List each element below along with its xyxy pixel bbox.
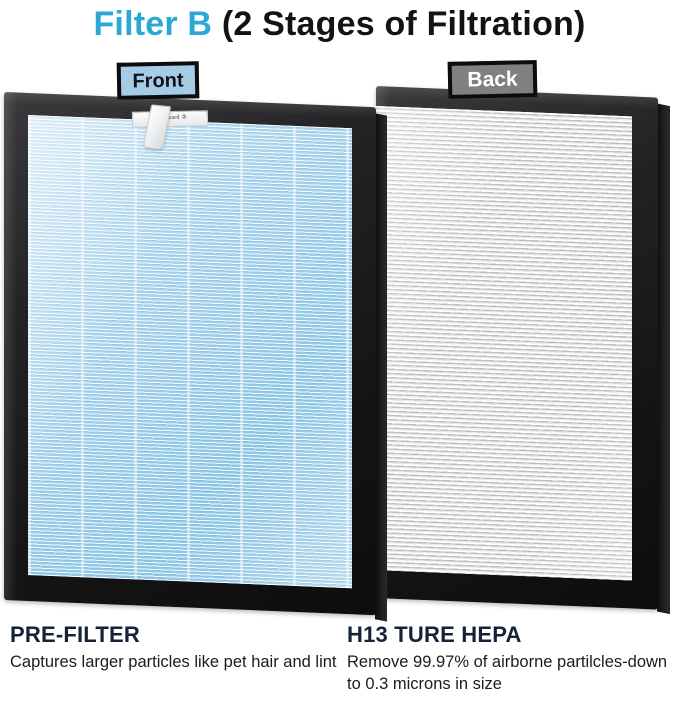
caption-hepa-description: Remove 99.97% of airborne partilcles-dow… <box>347 651 677 695</box>
filter-back-hepa-media <box>372 106 632 581</box>
caption-hepa-heading: H13 TURE HEPA <box>347 622 677 648</box>
badge-front-label: Front <box>132 70 183 91</box>
filter-orientation-label-strip: The rward ② <box>132 110 208 128</box>
caption-pre-filter-description: Captures larger particles like pet hair … <box>10 651 340 673</box>
badge-front: Front <box>117 61 200 100</box>
badge-back: Back <box>448 60 538 99</box>
filter-front-side-face <box>375 113 387 621</box>
filter-front-media-gloss <box>28 115 352 588</box>
caption-hepa: H13 TURE HEPA Remove 99.97% of airborne … <box>347 622 677 695</box>
product-image-stage: The rward ② Front Back <box>0 0 679 702</box>
caption-pre-filter-heading: PRE-FILTER <box>10 622 340 648</box>
filter-orientation-label-text: The rward ② <box>133 111 207 125</box>
filter-front-prefilter-media <box>28 115 352 588</box>
badge-back-label: Back <box>467 68 518 90</box>
filter-back-media-gloss <box>372 106 632 581</box>
filter-panel-back-hepa <box>376 86 658 610</box>
caption-pre-filter: PRE-FILTER Captures larger particles lik… <box>10 622 340 673</box>
filter-panel-front-prefilter <box>4 92 376 615</box>
filter-back-side-face <box>657 104 670 615</box>
